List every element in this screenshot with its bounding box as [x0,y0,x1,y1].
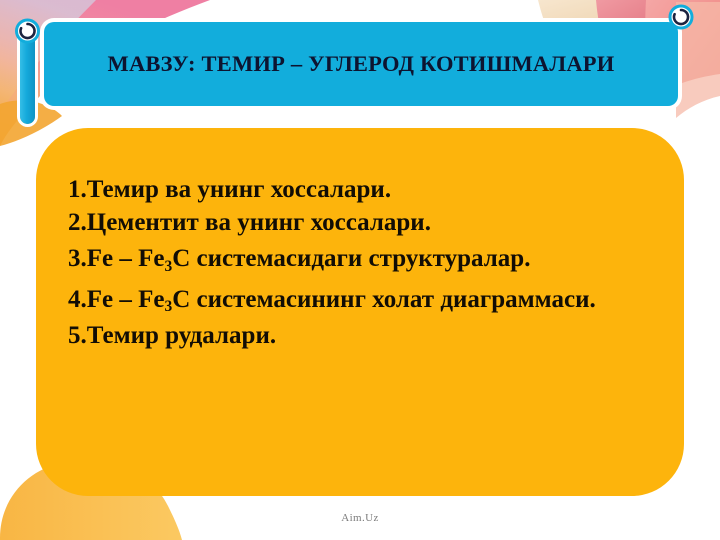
agenda-item-1-number: 1. [68,176,87,203]
agenda-item-4-label: C системасининг холат диаграммаси. [172,286,596,313]
banner-scroll-rod [20,28,35,124]
agenda-item-3-formula-pre: Fe – Fe [87,245,165,272]
agenda-item-4-formula-pre: Fe – Fe [87,286,165,313]
agenda-item-5-label: Темир рудалари. [87,322,276,349]
agenda-item-2-label: Цементит ва унинг хоссалари. [87,209,431,236]
agenda-item-2-number: 2. [68,209,87,236]
footer-credit: Aim.Uz [0,512,720,524]
agenda-item-3-formula-subscript: 3 [164,258,172,275]
agenda-item-3-number: 3. [68,245,87,272]
agenda-item-5-number: 5. [68,322,87,349]
agenda-list: 1.Темир ва унинг хоссалари. 2.Цементит в… [68,174,654,353]
list-item: 1.Темир ва унинг хоссалари. [68,174,654,207]
agenda-item-3-label: C системасидаги структуралар. [172,245,530,272]
list-item: 5.Темир рудалари. [68,320,654,353]
list-item: 4.Fe – Fe3C системасининг холат диаграмм… [68,280,654,321]
agenda-item-1-label: Темир ва унинг хоссалари. [87,176,391,203]
slide-canvas: МАВЗУ: ТЕМИР – УГЛЕРОД КОТИШМАЛАРИ 1.Тем… [0,0,720,540]
agenda-item-4-number: 4. [68,286,87,313]
title-banner: МАВЗУ: ТЕМИР – УГЛЕРОД КОТИШМАЛАРИ [44,22,678,106]
agenda-item-4-formula-subscript: 3 [164,298,172,315]
list-item: 3.Fe – Fe3C системасидаги структуралар. [68,239,654,280]
agenda-panel: 1.Темир ва унинг хоссалари. 2.Цементит в… [36,128,684,496]
list-item: 2.Цементит ва унинг хоссалари. [68,207,654,240]
page-title: МАВЗУ: ТЕМИР – УГЛЕРОД КОТИШМАЛАРИ [108,52,615,77]
